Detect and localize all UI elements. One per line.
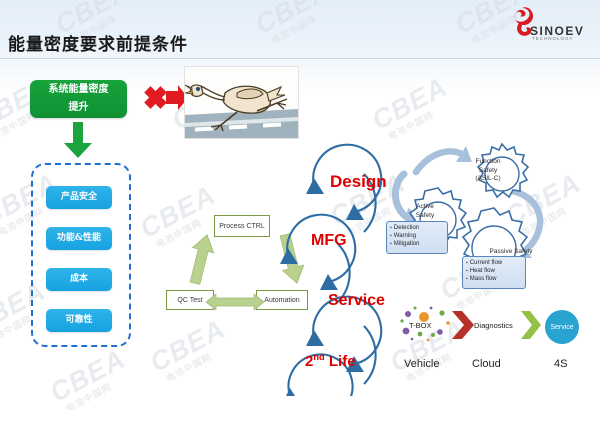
prerequisite-item-function-performance[interactable]: 功能&性能 (46, 227, 112, 250)
prerequisite-item-product-safety[interactable]: 产品安全 (46, 186, 112, 209)
watermark-main: CBEA (250, 0, 336, 41)
driver-line-2: 提升 (30, 99, 127, 117)
chain-node-service: Service (545, 310, 579, 344)
chain-node-tbox: T-BOX (409, 321, 432, 330)
title-divider (0, 58, 600, 59)
red-x-arrow-icon (138, 80, 188, 118)
watermark-main: CBEA (367, 71, 453, 136)
watermark: CBEA 电池中国网 (45, 343, 135, 417)
active-safety-line-1: Active (400, 203, 450, 212)
page-title: 能量密度要求前提条件 (8, 30, 188, 55)
prerequisite-item-reliability[interactable]: 可靠性 (46, 309, 112, 332)
watermark-sub: 电池中国网 (64, 368, 136, 414)
prerequisite-item-cost[interactable]: 成本 (46, 268, 112, 291)
slide-canvas: CBEA 电池中国网 CBEA 电池中国网 CBEA 电池中国网 CBEA 电池… (0, 0, 600, 424)
chain-label-4s: 4S (554, 358, 567, 370)
watermark-main: CBEA (45, 343, 131, 408)
active-item-detection: Detection (390, 224, 444, 232)
active-safety-items: Detection Warning Mitigation (386, 221, 448, 254)
second-life-word: Life (325, 353, 356, 370)
gear-label-function-safety: Function Safety (ASIL-C) (458, 158, 518, 184)
sinoev-logo: SINOEV TECHNOLOGY (498, 4, 594, 44)
passive-item-heat-flow: Heat flow (466, 267, 522, 275)
passive-item-current-flow: Current flow (466, 259, 522, 267)
function-safety-line-1: Function (458, 158, 518, 167)
active-safety-line-2: Safety (400, 212, 450, 221)
chain-label-vehicle: Vehicle (404, 358, 439, 370)
driver-line-1: 系统能量密度 (30, 81, 127, 99)
logo-tagline: TECHNOLOGY (532, 36, 574, 41)
watermark-sub: 电池中国网 (164, 338, 236, 384)
watermark: CBEA 电池中国网 (250, 0, 340, 50)
function-safety-line-3: (ASIL-C) (458, 175, 518, 184)
lifecycle-stage-2nd-life: 2nd Life (305, 352, 356, 370)
second-life-sup: nd (313, 352, 324, 362)
function-safety-line-2: Safety (458, 167, 518, 176)
system-energy-density-box: 系统能量密度 提升 (30, 80, 127, 118)
passive-item-mass-flow: Mass flow (466, 275, 522, 283)
chevron-arrow-red-icon (452, 311, 474, 339)
lifecycle-stage-service: Service (328, 292, 385, 310)
gear-label-active-safety: Active Safety (400, 203, 450, 220)
active-item-warning: Warning (390, 232, 444, 240)
chain-label-cloud: Cloud (472, 358, 501, 370)
watermark: CBEA 电池中国网 (145, 313, 235, 387)
green-down-arrow-icon (63, 122, 93, 159)
active-item-mitigation: Mitigation (390, 240, 444, 248)
passive-safety-items: Current flow Heat flow Mass flow (462, 256, 526, 289)
chain-node-diagnostics: Diagnostics (474, 321, 513, 330)
lifecycle-stage-mfg: MFG (311, 232, 347, 250)
watermark-sub: 电池中国网 (269, 0, 341, 46)
lifecycle-stage-design: Design (330, 172, 387, 192)
watermark-main: CBEA (145, 313, 231, 378)
chevron-arrow-green-icon (521, 311, 541, 339)
